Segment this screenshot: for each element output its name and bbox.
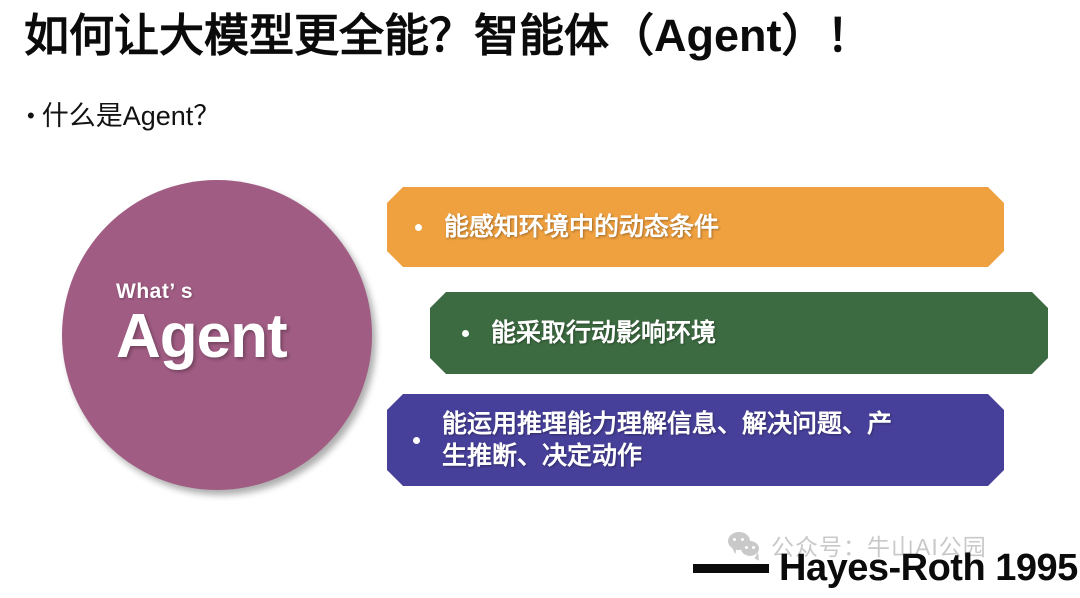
- bullet-marker-icon: •: [27, 102, 35, 131]
- citation-rule-icon: [693, 564, 769, 573]
- capability-banner-act: 能采取行动影响环境: [430, 292, 1048, 374]
- sub-bullet-label: 什么是Agent？: [42, 101, 221, 131]
- capability-banner-reason-label: 能运用推理能力理解信息、解决问题、产 生推断、决定动作: [442, 408, 892, 472]
- agent-circle: What’ s Agent: [62, 180, 372, 490]
- capability-banner-perceive: 能感知环境中的动态条件: [387, 187, 1004, 267]
- bullet-dot-icon: [462, 330, 469, 337]
- capability-banner-act-label: 能采取行动影响环境: [491, 317, 716, 350]
- capability-banner-perceive-label: 能感知环境中的动态条件: [444, 211, 719, 244]
- circle-caption-whats: What’ s: [116, 280, 193, 304]
- page-title: 如何让大模型更全能？智能体（Agent）！: [24, 8, 872, 64]
- citation-label: Hayes-Roth 1995: [779, 549, 1078, 587]
- bullet-dot-icon: [415, 224, 422, 231]
- citation: Hayes-Roth 1995: [693, 549, 1078, 587]
- circle-caption-agent: Agent: [116, 303, 287, 371]
- capability-banner-reason: 能运用推理能力理解信息、解决问题、产 生推断、决定动作: [387, 394, 1004, 486]
- sub-bullet-line: •什么是Agent？: [27, 99, 220, 134]
- bullet-dot-icon: [413, 437, 420, 444]
